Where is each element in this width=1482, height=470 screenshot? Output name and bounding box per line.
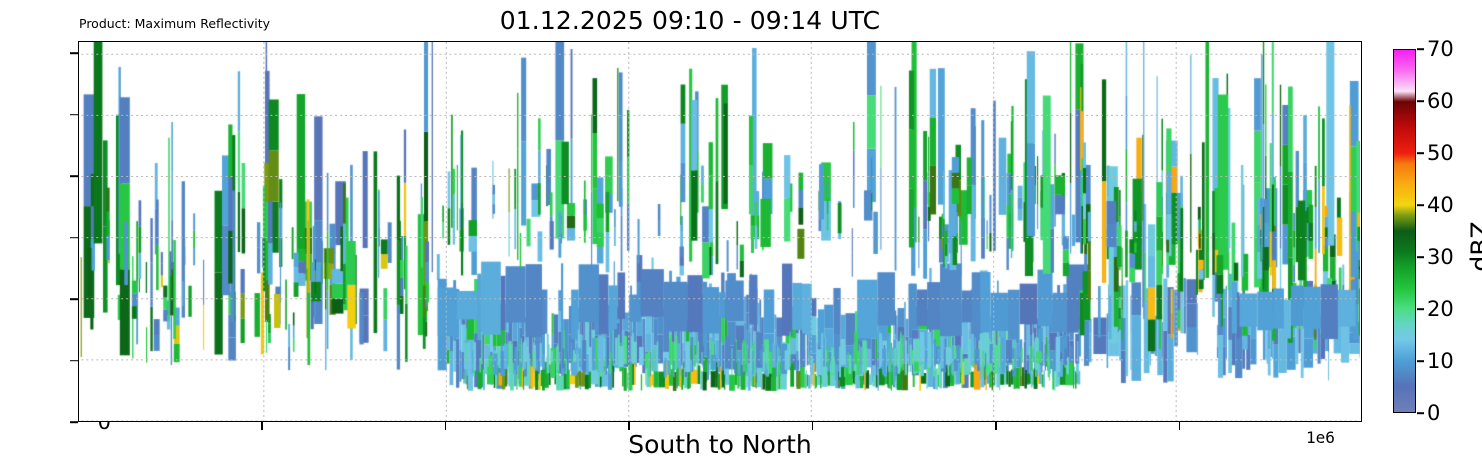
colorbar-tick-mark bbox=[1417, 100, 1424, 102]
colorbar-tick-label: 60 bbox=[1427, 89, 1454, 113]
reflectivity-heatmap-canvas bbox=[79, 42, 1360, 420]
colorbar-label: dBZ bbox=[1466, 187, 1482, 307]
colorbar-gradient bbox=[1394, 50, 1415, 412]
y-tick-mark bbox=[70, 298, 78, 300]
y-tick-mark bbox=[70, 237, 78, 239]
colorbar-tick-label: 70 bbox=[1427, 37, 1454, 61]
x-tick-mark bbox=[1179, 422, 1181, 430]
x-axis-label: South to North bbox=[78, 430, 1362, 459]
x-tick-mark bbox=[445, 422, 447, 430]
colorbar-tick-mark bbox=[1417, 256, 1424, 258]
x-tick-mark bbox=[812, 422, 814, 430]
radar-cross-section-figure: Product: Maximum Reflectivity 01.12.2025… bbox=[0, 0, 1482, 470]
colorbar-tick-mark bbox=[1417, 308, 1424, 310]
y-tick-mark bbox=[70, 52, 78, 54]
colorbar-tick-mark bbox=[1417, 48, 1424, 50]
colorbar bbox=[1393, 49, 1416, 413]
y-tick-mark bbox=[70, 421, 78, 423]
x-tick-mark bbox=[995, 422, 997, 430]
colorbar-tick-label: 50 bbox=[1427, 141, 1454, 165]
colorbar-tick-label: 20 bbox=[1427, 297, 1454, 321]
colorbar-tick-label: 30 bbox=[1427, 245, 1454, 269]
y-tick-mark bbox=[70, 360, 78, 362]
colorbar-tick-label: 10 bbox=[1427, 349, 1454, 373]
x-axis-offset-text: 1e6 bbox=[1306, 428, 1335, 447]
colorbar-tick-label: 40 bbox=[1427, 193, 1454, 217]
colorbar-tick-mark bbox=[1417, 204, 1424, 206]
colorbar-tick-mark bbox=[1417, 412, 1424, 414]
colorbar-tick-mark bbox=[1417, 360, 1424, 362]
y-tick-mark bbox=[70, 114, 78, 116]
x-tick-mark bbox=[261, 422, 263, 430]
x-tick-mark bbox=[628, 422, 630, 430]
reflectivity-plot-area bbox=[78, 41, 1362, 422]
y-tick-mark bbox=[70, 175, 78, 177]
colorbar-tick-label: 0 bbox=[1427, 401, 1440, 425]
figure-title: 01.12.2025 09:10 - 09:14 UTC bbox=[0, 6, 1380, 35]
colorbar-tick-mark bbox=[1417, 152, 1424, 154]
